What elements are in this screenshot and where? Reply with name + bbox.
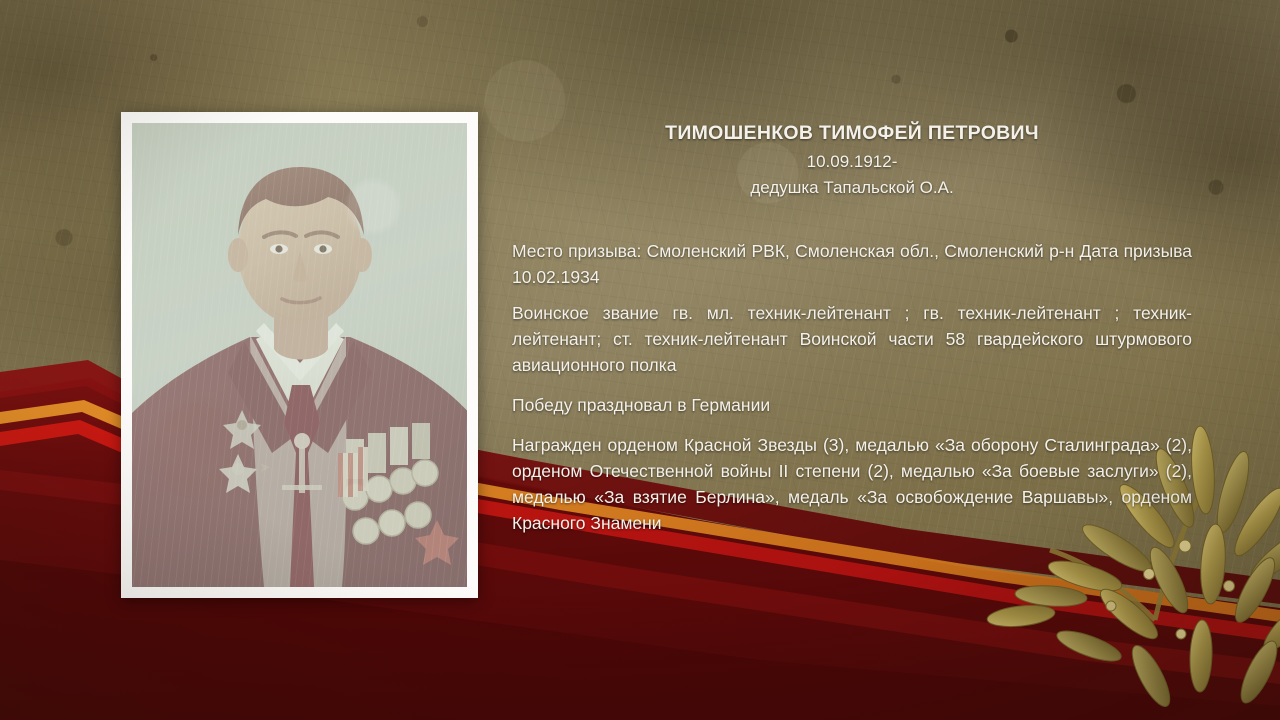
conscription-paragraph: Место призыва: Смоленский РВК, Смоленска… bbox=[512, 238, 1192, 290]
memorial-slide: ТИМОШЕНКОВ ТИМОФЕЙ ПЕТРОВИЧ 10.09.1912- … bbox=[0, 0, 1280, 720]
awards-paragraph: Награжден орденом Красной Звезды (3), ме… bbox=[512, 432, 1192, 536]
rank-paragraph: Воинское звание гв. мл. техник-лейтенант… bbox=[512, 300, 1192, 378]
victory-paragraph: Победу праздновал в Германии bbox=[512, 392, 1192, 418]
relation-note: дедушка Тапальской О.А. bbox=[512, 178, 1192, 198]
photo-grain-overlay bbox=[132, 123, 467, 587]
portrait-photo-frame bbox=[121, 112, 478, 598]
life-dates: 10.09.1912- bbox=[512, 152, 1192, 172]
portrait-photo bbox=[132, 123, 467, 587]
page-title: ТИМОШЕНКОВ ТИМОФЕЙ ПЕТРОВИЧ bbox=[512, 122, 1192, 145]
